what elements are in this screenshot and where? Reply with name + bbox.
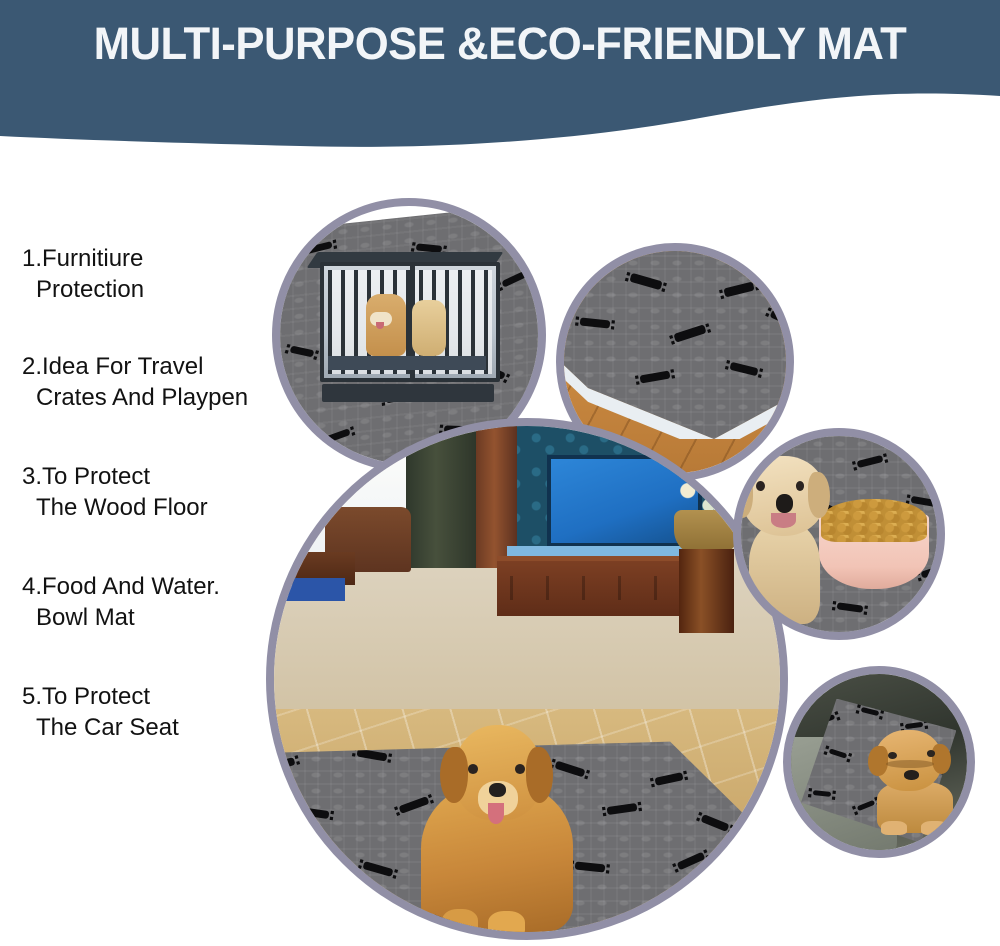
photo-collage xyxy=(0,0,1000,946)
bulldog-puppy-car-seat xyxy=(868,730,956,829)
dog-crate-illustration xyxy=(320,252,500,390)
golden-retriever-living-room xyxy=(421,725,573,932)
golden-retriever-food-bowl xyxy=(741,456,835,625)
kibble-pile xyxy=(821,499,927,542)
infographic-root: MULTI-PURPOSE &ECO-FRIENDLY MAT 1.Furnit… xyxy=(0,0,1000,946)
collage-bubble-food-bowl xyxy=(733,428,945,640)
collage-bubble-car-seat xyxy=(783,666,975,858)
living-room-scene xyxy=(274,426,780,750)
collage-bubble-living-room xyxy=(266,418,788,940)
